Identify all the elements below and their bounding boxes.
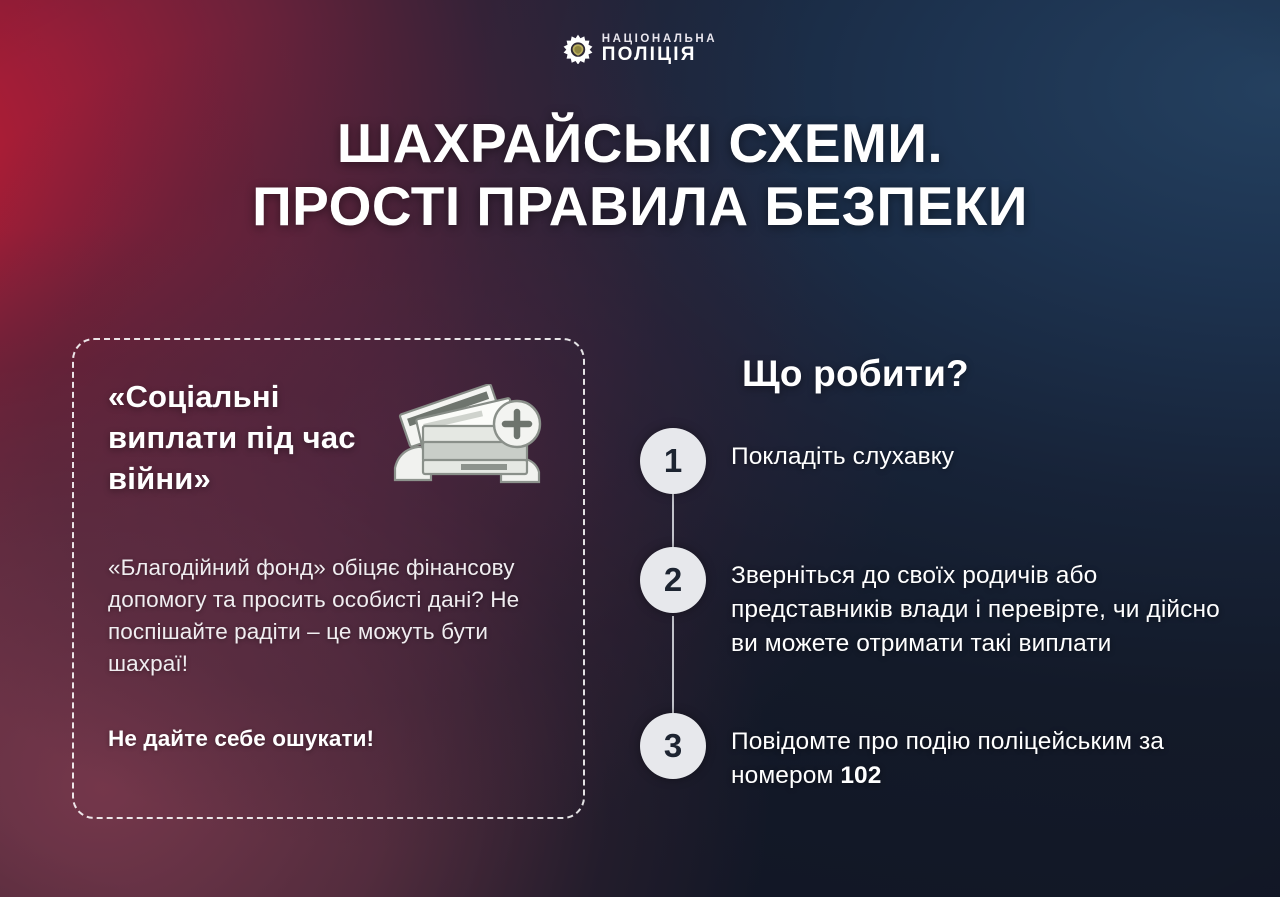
page-title-line-2: ПРОСТІ ПРАВИЛА БЕЗПЕКИ (0, 175, 1280, 238)
steps-section-title: Що робити? (742, 353, 969, 395)
step-number-badge-2: 2 (640, 547, 706, 613)
infographic-poster: НАЦІОНАЛЬНА ПОЛІЦІЯ ШАХРАЙСЬКІ СХЕМИ. ПР… (0, 0, 1280, 897)
step-connector-1 (672, 494, 674, 550)
brand-logo: НАЦІОНАЛЬНА ПОЛІЦІЯ (0, 33, 1280, 65)
step-number-badge-1: 1 (640, 428, 706, 494)
step-text-2: Зверніться до своїх родичів або представ… (731, 547, 1240, 660)
step-text-3: Повідомте про подію поліцейським за номе… (731, 713, 1240, 793)
banknotes-plus-icon (389, 384, 549, 488)
step-text-1: Покладіть слухавку (731, 428, 954, 474)
step-number-badge-3: 3 (640, 713, 706, 779)
step-item-1: 1 Покладіть слухавку (640, 428, 1240, 494)
step-item-3: 3 Повідомте про подію поліцейським за но… (640, 713, 1240, 793)
step-text-3-plain: Повідомте про подію поліцейським за номе… (731, 728, 1164, 789)
scam-card-body: «Благодійний фонд» обіцяє фінансову допо… (108, 552, 549, 681)
steps-list: 1 Покладіть слухавку 2 Зверніться до сво… (640, 428, 1240, 793)
page-title: ШАХРАЙСЬКІ СХЕМИ. ПРОСТІ ПРАВИЛА БЕЗПЕКИ (0, 112, 1280, 237)
scam-description-card: «Соціальні виплати під час війни» (72, 338, 585, 819)
brand-line-2: ПОЛІЦІЯ (602, 45, 717, 65)
scam-card-header: «Соціальні виплати під час війни» (108, 376, 549, 500)
page-title-line-1: ШАХРАЙСЬКІ СХЕМИ. (0, 112, 1280, 175)
emergency-number-102: 102 (840, 762, 881, 789)
scam-card-emphasis: Не дайте себе ошукати! (108, 726, 549, 752)
step-item-2: 2 Зверніться до своїх родичів або предст… (640, 547, 1240, 660)
police-star-icon (563, 34, 593, 64)
scam-card-heading: «Соціальні виплати під час війни» (108, 376, 383, 500)
